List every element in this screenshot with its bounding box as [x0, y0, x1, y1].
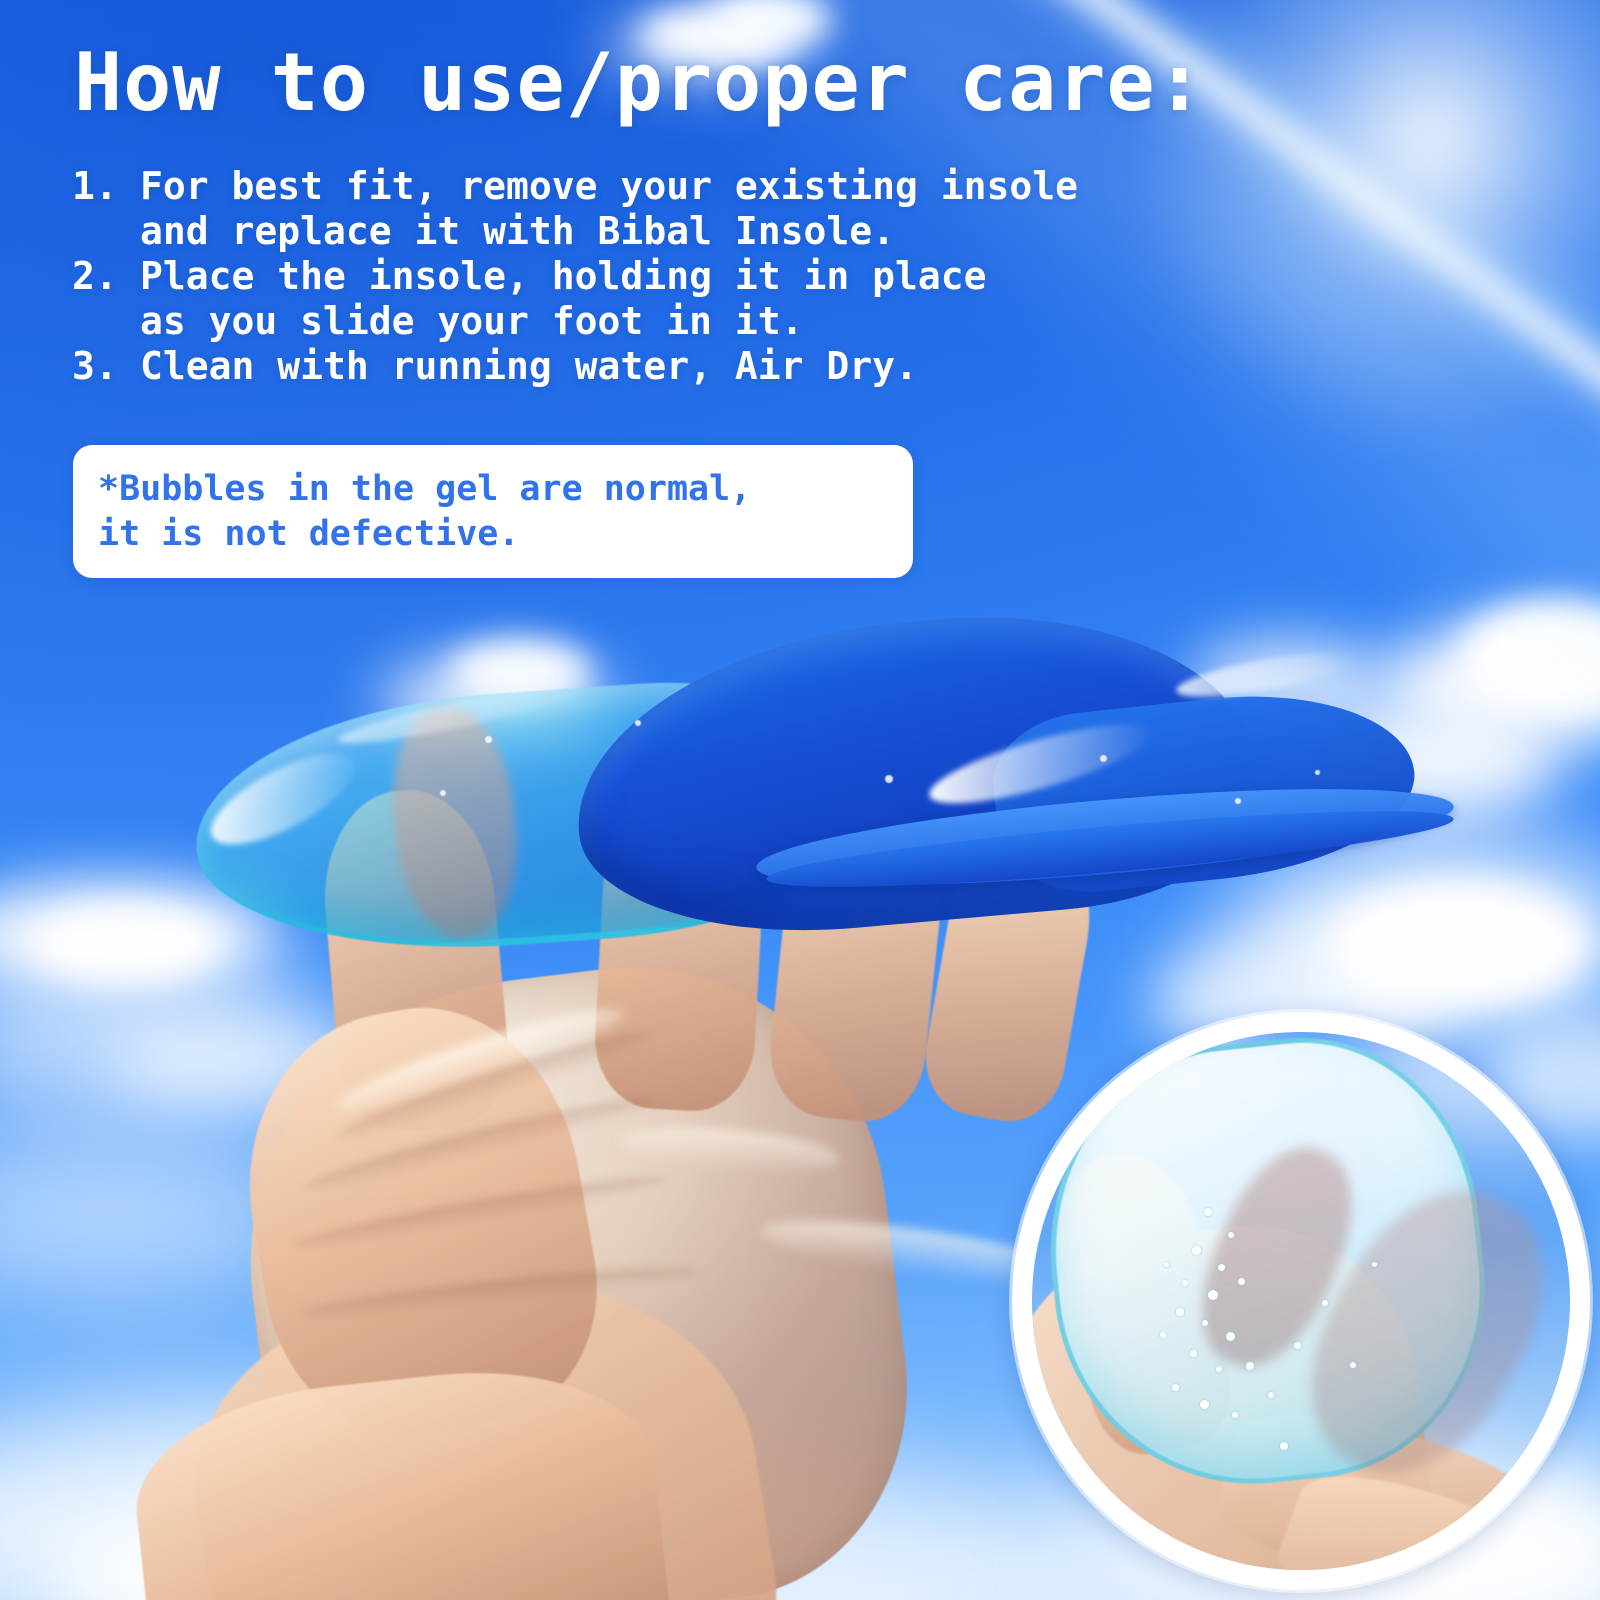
bubble-note-text: *Bubbles in the gel are normal, it is no…	[98, 467, 751, 557]
gel-bubble	[885, 775, 893, 783]
step-text: For best fit, remove your existing insol…	[140, 164, 1078, 254]
gel-bubble	[1235, 798, 1241, 804]
gel-bubble	[1100, 755, 1107, 762]
gel-bubble	[635, 720, 641, 726]
gel-bubble	[1315, 770, 1320, 775]
page-title: How to use/proper care:	[74, 40, 1205, 126]
step-number: 2.	[72, 254, 140, 299]
instruction-list: 1. For best fit, remove your existing in…	[72, 164, 1078, 389]
step-text: Clean with running water, Air Dry.	[140, 344, 918, 389]
gel-insole-product	[195, 600, 1375, 960]
infographic-canvas: How to use/proper care: 1. For best fit,…	[0, 0, 1600, 1600]
gel-bubble	[485, 736, 492, 743]
list-item: 3. Clean with running water, Air Dry.	[72, 344, 1078, 389]
list-item: 1. For best fit, remove your existing in…	[72, 164, 1078, 254]
bubble-note-callout: *Bubbles in the gel are normal, it is no…	[73, 445, 913, 578]
gel-bubble	[440, 790, 446, 796]
bubble-detail-inset	[1012, 1012, 1590, 1590]
step-number: 3.	[72, 344, 140, 389]
step-number: 1.	[72, 164, 140, 209]
step-text: Place the insole, holding it in place as…	[140, 254, 986, 344]
list-item: 2. Place the insole, holding it in place…	[72, 254, 1078, 344]
